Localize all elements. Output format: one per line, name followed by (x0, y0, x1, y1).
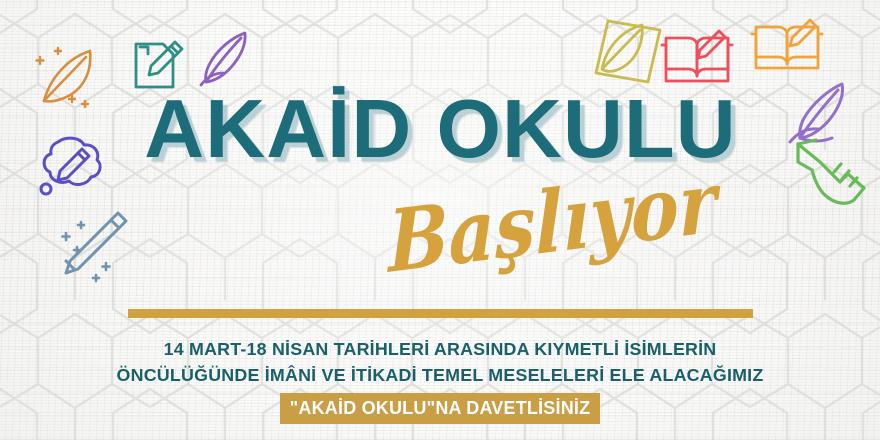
pencil-sparkle-icon (44, 205, 130, 283)
body-line-1: 14 MART-18 NİSAN TARİHLERİ ARASINDA KIYM… (0, 336, 880, 362)
cta-banner: "AKAİD OKULU"NA DAVETLİSİNİZ (280, 393, 601, 424)
feather-on-paper-icon (588, 16, 668, 92)
title-block: AKAİD OKULU (0, 92, 880, 182)
open-book-pencil-red-icon (662, 28, 732, 88)
cta-row: "AKAİD OKULU"NA DAVETLİSİNİZ (0, 393, 880, 424)
body-copy-block: 14 MART-18 NİSAN TARİHLERİ ARASINDA KIYM… (0, 336, 880, 424)
poster-title: AKAİD OKULU (144, 88, 736, 171)
gold-divider (128, 309, 753, 318)
open-book-pencil-orange-icon (752, 18, 822, 76)
body-line-2: ÖNCÜLÜĞÜNDE İMÂNİ VE İTİKADİ TEMEL MESEL… (0, 362, 880, 388)
poster-canvas: AKAİD OKULU Başlıyor 14 MART-18 NİSAN TA… (0, 0, 880, 440)
quill-feather-icon (197, 27, 253, 89)
